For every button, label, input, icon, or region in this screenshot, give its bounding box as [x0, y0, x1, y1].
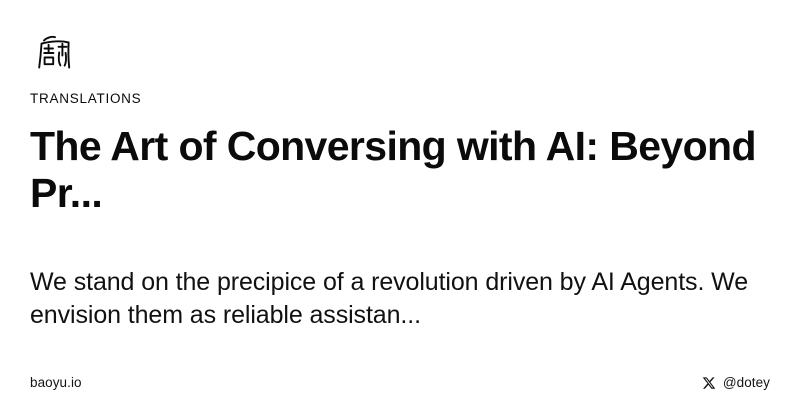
card-footer: baoyu.io @dotey [30, 376, 770, 396]
site-name: baoyu.io [30, 376, 82, 390]
page-title: The Art of Conversing with AI: Beyond Pr… [30, 123, 770, 217]
x-twitter-icon [702, 376, 716, 390]
share-card: TRANSLATIONS The Art of Conversing with … [0, 0, 800, 420]
social-attribution: @dotey [702, 376, 770, 390]
social-handle: @dotey [723, 376, 770, 390]
cjk-seal-logo-icon [32, 32, 76, 74]
category-label: TRANSLATIONS [30, 92, 770, 106]
article-excerpt: We stand on the precipice of a revolutio… [30, 266, 770, 332]
